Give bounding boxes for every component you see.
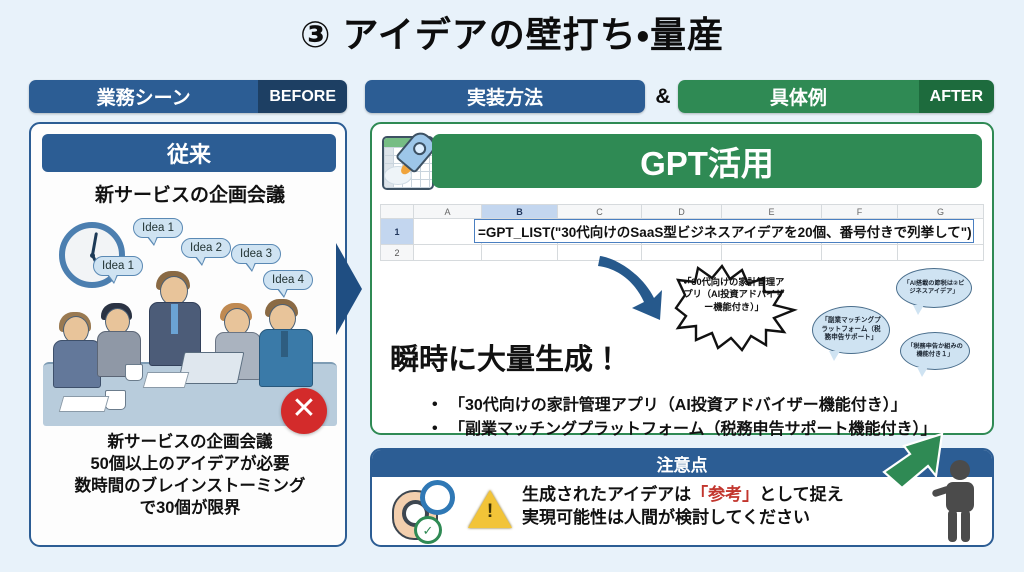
column-header-d[interactable]: D [642,204,722,219]
caution-line1-after: として捉え [759,485,844,504]
burst-text: ・「30代向けの家計管理アプリ（AI投資アドバイザー機能付き）」 [680,276,788,313]
before-card-banner: 従来 [42,134,336,172]
cross-badge-glyph: ✕ [291,394,316,424]
laptop-illustration [178,352,245,384]
cell-f2[interactable] [822,245,898,261]
header-before-tag: BEFORE [258,80,347,113]
cross-badge-icon: ✕ [281,388,327,434]
transition-arrow-icon [336,243,362,335]
idea-bubble: Idea 3 [231,244,281,264]
column-header-b[interactable]: B [482,204,558,219]
page-title: ③ アイデアの壁打ち・量産 [0,6,1024,58]
header-implementation: 実装方法 [365,80,645,113]
gpt-card-banner: GPT活用 [432,134,982,188]
caution-body: 生成されたアイデアは「参考」として捉え 実現可能性は人間が検討してください [522,483,922,530]
idea-bubble: Idea 1 [133,218,183,238]
column-header-f[interactable]: F [822,204,898,219]
spreadsheet-column-headers: A B C D E F G [380,204,986,219]
column-header-g[interactable]: G [898,204,984,219]
before-footer-line: 50個以上のアイデアが必要 [31,454,349,476]
result-headline: 瞬時に大量生成！ [390,336,622,378]
cell-a1[interactable] [414,219,482,245]
result-arrow-icon [880,432,960,492]
header-implementation-label: 実装方法 [365,80,645,113]
idea-bubble: Idea 4 [263,270,313,290]
header-before: 業務シーン BEFORE [29,80,347,113]
cup-illustration [125,364,143,381]
caution-line1-before: 生成されたアイデアは [522,485,691,504]
header-after-tag: AFTER [919,80,994,113]
warning-triangle-icon: ! [468,490,512,530]
header-after: 具体例 AFTER [678,80,994,113]
formula-cell[interactable]: =GPT_LIST("30代向けのSaaS型ビジネスアイデアを20個、番号付きで… [474,219,974,243]
meeting-illustration: Idea 1 Idea 1 Idea 2 Idea 3 Idea 4 ✕ [41,212,339,427]
corner-cell [380,204,414,219]
column-header-c[interactable]: C [558,204,642,219]
spreadsheet-row: 2 [380,245,986,261]
cell-b2[interactable] [482,245,558,261]
column-header-a[interactable]: A [414,204,482,219]
header-ampersand: & [650,80,676,113]
idea-oval-bubble: 「AI搭載の節税は②ビジネスアイデア」 [896,268,972,308]
row-header-1[interactable]: 1 [380,219,414,245]
slide-root: ③ アイデアの壁打ち・量産 業務シーン BEFORE 実装方法 & 具体例 AF… [0,0,1024,572]
row-header-2[interactable]: 2 [380,245,414,261]
column-header-e[interactable]: E [722,204,822,219]
caution-line-2: 実現可能性は人間が検討してください [522,506,922,529]
paper-illustration [59,396,110,412]
before-footer-line: で30個が限界 [31,498,349,520]
cell-a2[interactable] [414,245,482,261]
before-card: 従来 新サービスの企画会議 Idea 1 Idea 1 Idea 2 Idea … [29,122,347,547]
before-card-footer: 新サービスの企画会議 50個以上のアイデアが必要 数時間のブレインストーミング … [31,432,349,520]
idea-bubble: Idea 2 [181,238,231,258]
idea-burst: ・「30代向けの家計管理アプリ（AI投資アドバイザー機能付き）」 [668,262,800,354]
header-after-label: 具体例 [678,80,919,113]
paper-illustration [143,372,190,388]
idea-oval-bubble: 「税務申告か組みの機能付き１」 [900,332,970,370]
thinking-head-icon: ✓ [390,480,452,540]
cell-g2[interactable] [898,245,984,261]
before-card-subtitle: 新サービスの企画会議 [31,180,349,207]
idea-bubble: Idea 1 [93,256,143,276]
header-before-label: 業務シーン [29,80,258,113]
caution-highlight: 「参考」 [691,485,759,504]
check-badge-icon: ✓ [414,516,442,544]
caution-line-1: 生成されたアイデアは「参考」として捉え [522,483,922,506]
cell-e2[interactable] [722,245,822,261]
before-footer-line: 数時間のブレインストーミング [31,476,349,498]
before-footer-line: 新サービスの企画会議 [31,432,349,454]
idea-oval-bubble: 「副業マッチングプラットフォーム（税務申告サポート」 [812,306,890,354]
list-item: 「30代向けの家計管理アプリ（AI投資アドバイザー機能付き）」 [432,394,1022,418]
